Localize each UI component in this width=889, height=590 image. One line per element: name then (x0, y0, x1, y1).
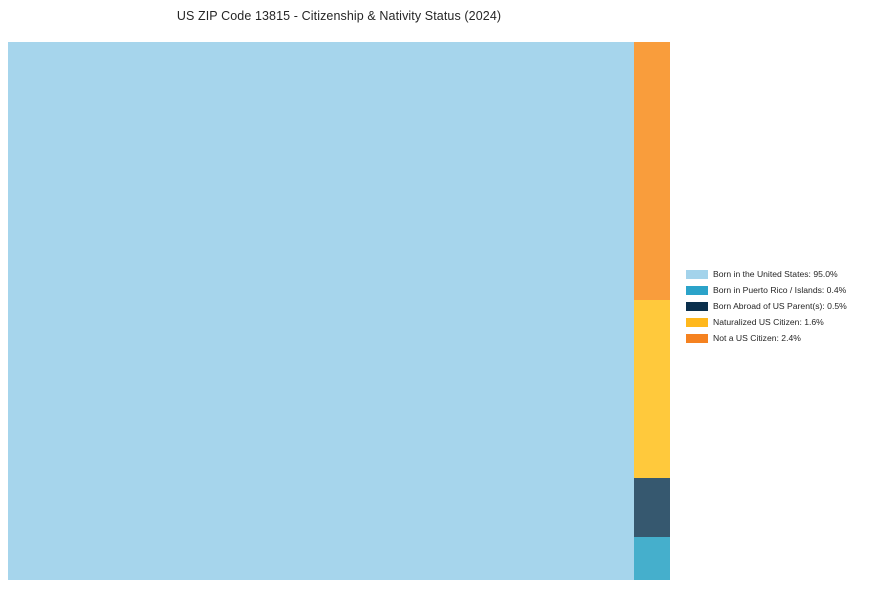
legend-item-born-in-puerto-rico-islands[interactable]: Born in Puerto Rico / Islands: 0.4% (686, 282, 876, 298)
legend-item-label: Born Abroad of US Parent(s): 0.5% (713, 301, 847, 311)
treemap-tile-born-abroad-of-us-parents[interactable]: Born Abroad of US Parent(s): 0.5% (634, 478, 670, 537)
legend-swatch-icon (686, 286, 708, 295)
treemap-plot-area: Born in the United States: 95.0% Not a U… (8, 42, 670, 580)
chart-legend: Born in the United States: 95.0% Born in… (686, 266, 876, 346)
legend-item-label: Not a US Citizen: 2.4% (713, 333, 801, 343)
legend-swatch-icon (686, 334, 708, 343)
treemap-tile-not-a-us-citizen[interactable]: Not a US Citizen: 2.4% (634, 42, 670, 300)
legend-item-naturalized-us-citizen[interactable]: Naturalized US Citizen: 1.6% (686, 314, 876, 330)
legend-swatch-icon (686, 302, 708, 311)
legend-swatch-icon (686, 270, 708, 279)
legend-item-born-abroad-of-us-parents[interactable]: Born Abroad of US Parent(s): 0.5% (686, 298, 876, 314)
treemap-figure: US ZIP Code 13815 - Citizenship & Nativi… (0, 0, 889, 590)
page-title: US ZIP Code 13815 - Citizenship & Nativi… (0, 9, 678, 23)
legend-item-label: Born in Puerto Rico / Islands: 0.4% (713, 285, 846, 295)
legend-item-not-a-us-citizen[interactable]: Not a US Citizen: 2.4% (686, 330, 876, 346)
treemap-tile-born-in-puerto-rico-islands[interactable]: Born in Puerto Rico / Islands: 0.4% (634, 537, 670, 580)
legend-swatch-icon (686, 318, 708, 327)
legend-item-born-in-the-united-states[interactable]: Born in the United States: 95.0% (686, 266, 876, 282)
treemap-tile-born-in-the-united-states[interactable]: Born in the United States: 95.0% (8, 42, 634, 580)
legend-item-label: Born in the United States: 95.0% (713, 269, 838, 279)
treemap-tile-naturalized-us-citizen[interactable]: Naturalized US Citizen: 1.6% (634, 300, 670, 478)
legend-item-label: Naturalized US Citizen: 1.6% (713, 317, 824, 327)
